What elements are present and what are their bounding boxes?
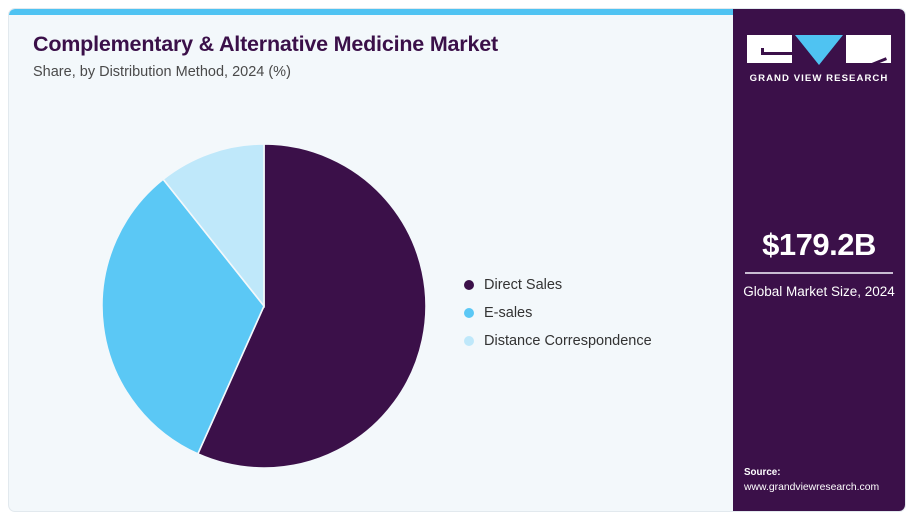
page-title: Complementary & Alternative Medicine Mar… xyxy=(33,31,693,57)
legend-item-direct-sales[interactable]: Direct Sales xyxy=(464,271,652,299)
source-block: Source: www.grandviewresearch.com xyxy=(744,466,904,495)
legend-swatch-icon xyxy=(464,308,474,318)
page-subtitle: Share, by Distribution Method, 2024 (%) xyxy=(33,62,693,82)
side-panel: GRAND VIEW RESEARCH $179.2B Global Marke… xyxy=(733,9,905,512)
infographic-card: Complementary & Alternative Medicine Mar… xyxy=(8,8,906,512)
legend-item-label: Distance Correspondence xyxy=(484,333,652,349)
source-label: Source: xyxy=(744,466,904,480)
market-size-stat: $179.2B Global Market Size, 2024 xyxy=(743,227,895,301)
brand-logo: GRAND VIEW RESEARCH xyxy=(746,35,892,84)
legend-swatch-icon xyxy=(464,280,474,290)
stat-caption: Global Market Size, 2024 xyxy=(743,282,895,301)
legend-item-e-sales[interactable]: E-sales xyxy=(464,299,652,327)
pie-chart-svg xyxy=(94,136,434,476)
legend-swatch-icon xyxy=(464,336,474,346)
logo-marks xyxy=(746,35,892,65)
logo-v-triangle-icon xyxy=(795,35,843,65)
pie-slice-group xyxy=(102,144,426,468)
stat-value: $179.2B xyxy=(743,227,895,263)
logo-wordmark: GRAND VIEW RESEARCH xyxy=(746,73,892,84)
logo-r-icon xyxy=(846,35,891,63)
pie-chart xyxy=(94,136,434,476)
logo-g-icon xyxy=(747,35,792,63)
top-accent-bar xyxy=(9,9,739,15)
stat-divider xyxy=(745,272,893,274)
legend-item-label: E-sales xyxy=(484,305,532,321)
source-url[interactable]: www.grandviewresearch.com xyxy=(744,480,904,495)
title-block: Complementary & Alternative Medicine Mar… xyxy=(33,31,693,82)
chart-legend: Direct Sales E-sales Distance Correspond… xyxy=(464,271,652,355)
legend-item-distance-correspondence[interactable]: Distance Correspondence xyxy=(464,327,652,355)
legend-item-label: Direct Sales xyxy=(484,277,562,293)
